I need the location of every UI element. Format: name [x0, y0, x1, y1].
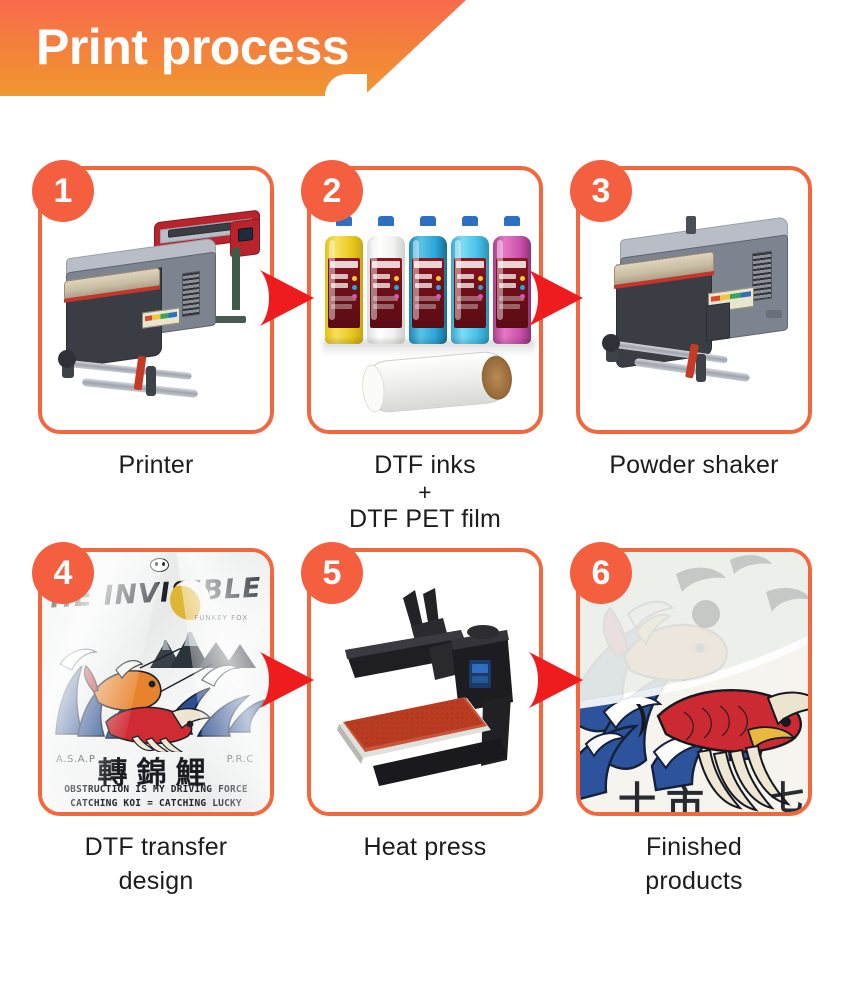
- step-3-card[interactable]: 3: [576, 166, 812, 434]
- step-1[interactable]: 1 Printer: [38, 166, 274, 482]
- step-1-card[interactable]: 1: [38, 166, 274, 434]
- step-3[interactable]: 3 Powder shaker: [576, 166, 812, 482]
- step-4-caption-line2: design: [119, 867, 194, 895]
- step-3-badge: 3: [570, 160, 632, 222]
- process-steps-grid: 1 Printer: [0, 96, 850, 984]
- step-4-badge: 4: [32, 542, 94, 604]
- right-arrow-icon: [527, 650, 583, 710]
- step-1-badge: 1: [32, 160, 94, 222]
- step-1-caption-line1: Printer: [118, 451, 193, 479]
- header-banner: Print process: [0, 0, 466, 96]
- step-2-caption: DTF inks + DTF PET film: [307, 448, 543, 536]
- step-6-badge: 6: [570, 542, 632, 604]
- svg-text:市: 市: [666, 783, 704, 812]
- ink-bottle-light-cyan: [451, 216, 489, 344]
- step-4[interactable]: HE INVISIBLE POOR FUNKEY FOX: [38, 548, 274, 898]
- step-4-caption-line1: DTF transfer: [85, 833, 228, 861]
- step-5[interactable]: 5 Heat press: [307, 548, 543, 864]
- step-3-caption-line1: Powder shaker: [609, 451, 778, 479]
- step-6-caption-line1: Finished: [646, 833, 742, 861]
- pet-film-roll: [361, 350, 513, 415]
- right-arrow-icon: [258, 650, 314, 710]
- page-title: Print process: [36, 16, 349, 78]
- ink-bottle-white: [367, 216, 405, 344]
- step-2-caption-plus: +: [307, 482, 543, 502]
- step-2-caption-line2: DTF PET film: [349, 505, 501, 533]
- arrow-step-4-to-5: [258, 650, 314, 710]
- svg-text:七: 七: [770, 779, 804, 812]
- step-3-caption: Powder shaker: [576, 448, 812, 482]
- step-5-caption-line1: Heat press: [364, 833, 487, 861]
- step-1-caption: Printer: [38, 448, 274, 482]
- step-6[interactable]: 十 市 七: [576, 548, 812, 898]
- right-arrow-icon: [258, 268, 314, 328]
- step-4-caption: DTF transfer design: [38, 830, 274, 898]
- ink-bottle-magenta: [493, 216, 531, 344]
- arrow-step-5-to-6: [527, 650, 583, 710]
- step-5-card[interactable]: 5: [307, 548, 543, 816]
- step-5-caption: Heat press: [307, 830, 543, 864]
- step-6-caption-line2: products: [645, 867, 743, 895]
- step-5-badge: 5: [301, 542, 363, 604]
- arrow-step-1-to-2: [258, 268, 314, 328]
- svg-text:十: 十: [618, 779, 656, 812]
- ink-bottle-cyan: [409, 216, 447, 344]
- step-2[interactable]: 2 DTF inks + DTF PET film: [307, 166, 543, 536]
- step-2-card[interactable]: 2: [307, 166, 543, 434]
- right-arrow-icon: [527, 268, 583, 328]
- step-2-caption-line1: DTF inks: [374, 451, 476, 479]
- ink-bottle-yellow: [325, 216, 363, 344]
- step-2-badge: 2: [301, 160, 363, 222]
- arrow-step-2-to-3: [527, 268, 583, 328]
- step-4-card[interactable]: HE INVISIBLE POOR FUNKEY FOX: [38, 548, 274, 816]
- step-6-caption: Finished products: [576, 830, 812, 898]
- step-6-card[interactable]: 十 市 七: [576, 548, 812, 816]
